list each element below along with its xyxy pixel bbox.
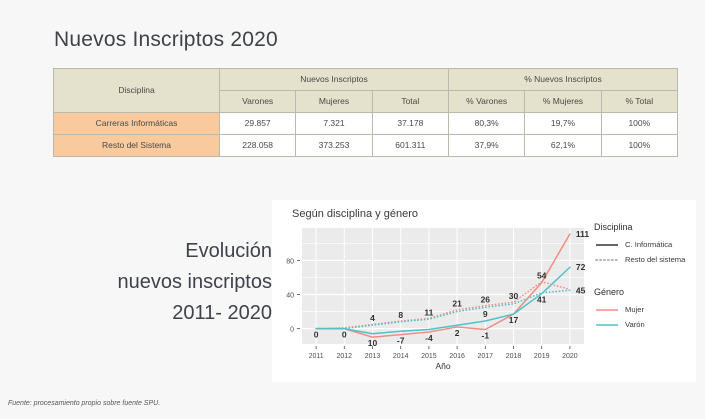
x-axis-tick-label: 2017: [478, 353, 494, 360]
chart-card: Según disciplina y género 04080201120122…: [272, 200, 696, 382]
header-group-nuevos-inscriptos: Nuevos Inscriptos: [220, 69, 449, 91]
x-axis-tick-label: 2014: [393, 353, 409, 360]
row-label-resto-del-sistema: Resto del Sistema: [54, 135, 220, 157]
page-title: Nuevos Inscriptos 2020: [54, 28, 278, 52]
chart-title: Según disciplina y género: [292, 208, 418, 220]
source-footnote: Fuente: procesamiento propio sobre fuent…: [8, 400, 160, 407]
cell-mujeres: 7.321: [296, 113, 372, 135]
legend-key-solid-line-icon: [594, 239, 620, 251]
legend-title-disciplina: Disciplina: [594, 222, 694, 232]
x-axis-tick-label: 2019: [534, 353, 550, 360]
data-point-label: 11: [424, 307, 433, 317]
x-axis-tick-label: 2011: [309, 353, 324, 360]
data-point-label: 72: [576, 262, 586, 272]
data-point-label: 26: [481, 294, 491, 304]
row-label-carreras-informaticas: Carreras Informáticas: [54, 113, 220, 135]
data-point-label: 41: [537, 295, 547, 305]
data-point-label: 9: [483, 309, 488, 319]
cell-mujeres: 373.253: [296, 135, 372, 157]
data-point-label: 54: [537, 271, 547, 281]
legend-item-c-informatica[interactable]: C. Informática: [594, 237, 694, 252]
legend-item-mujer[interactable]: Mujer: [594, 302, 694, 317]
header-pct-mujeres: % Mujeres: [525, 91, 601, 113]
data-point-label: -1: [482, 331, 490, 341]
legend-key-mujer-color-icon: [594, 304, 620, 316]
data-point-label: 21: [452, 299, 462, 309]
legend-key-dotted-line-icon: [594, 254, 620, 266]
data-point-label: 4: [370, 313, 375, 323]
y-axis-tick-label: 0: [290, 327, 294, 334]
chart-legend: Disciplina C. Informática Resto del sist…: [594, 222, 694, 332]
data-point-label: -7: [397, 336, 405, 346]
cell-pct-varones: 37,9%: [448, 135, 524, 157]
cell-pct-total: 100%: [601, 135, 677, 157]
legend-label-varon: Varón: [625, 320, 645, 329]
y-axis-tick-label: 40: [286, 293, 294, 300]
data-point-label: 10: [368, 338, 378, 348]
x-axis-tick-label: 2018: [506, 353, 522, 360]
table-row: Resto del Sistema 228.058 373.253 601.31…: [54, 135, 678, 157]
x-axis-tick-label: 2020: [562, 353, 578, 360]
data-table-container: Disciplina Nuevos Inscriptos % Nuevos In…: [53, 68, 678, 157]
table-head: Disciplina Nuevos Inscriptos % Nuevos In…: [54, 69, 678, 113]
data-point-label: 8: [398, 310, 403, 320]
header-pct-varones: % Varones: [448, 91, 524, 113]
table-body: Carreras Informáticas 29.857 7.321 37.17…: [54, 113, 678, 157]
x-axis-tick-label: 2016: [449, 353, 465, 360]
x-axis-tick-label: 2012: [337, 353, 353, 360]
header-mujeres: Mujeres: [296, 91, 372, 113]
header-group-pct-nuevos-inscriptos: % Nuevos Inscriptos: [448, 69, 677, 91]
cell-total: 37.178: [372, 113, 448, 135]
legend-label-mujer: Mujer: [625, 305, 644, 314]
y-axis-tick-label: 80: [286, 258, 294, 265]
table-row: Carreras Informáticas 29.857 7.321 37.17…: [54, 113, 678, 135]
legend-label-c-informatica: C. Informática: [625, 240, 672, 249]
x-axis-tick-label: 2013: [365, 353, 381, 360]
caption-line-2: nuevos inscriptos: [40, 267, 272, 298]
legend-item-resto-del-sistema[interactable]: Resto del sistema: [594, 252, 694, 267]
header-varones: Varones: [220, 91, 296, 113]
caption-line-3: 2011- 2020: [40, 298, 272, 329]
cell-varones: 228.058: [220, 135, 296, 157]
x-axis-title: Año: [435, 361, 450, 370]
cell-total: 601.311: [372, 135, 448, 157]
data-point-label: 17: [509, 315, 519, 325]
header-total: Total: [372, 91, 448, 113]
cell-varones: 29.857: [220, 113, 296, 135]
legend-item-varon[interactable]: Varón: [594, 317, 694, 332]
data-point-label: 30: [509, 291, 519, 301]
header-pct-total: % Total: [601, 91, 677, 113]
cell-pct-mujeres: 62,1%: [525, 135, 601, 157]
legend-title-genero: Género: [594, 287, 694, 297]
data-point-label: 0: [342, 330, 347, 340]
legend-label-resto-del-sistema: Resto del sistema: [625, 255, 685, 264]
cell-pct-mujeres: 19,7%: [525, 113, 601, 135]
header-disciplina: Disciplina: [54, 69, 220, 113]
legend-key-varon-color-icon: [594, 319, 620, 331]
x-axis-tick-label: 2015: [421, 353, 437, 360]
legend-spacer: [594, 267, 694, 287]
data-point-label: 2: [455, 328, 460, 338]
new-enrollments-table: Disciplina Nuevos Inscriptos % Nuevos In…: [53, 68, 678, 157]
data-point-label: -4: [425, 333, 433, 343]
slide-root: Nuevos Inscriptos 2020 Disciplina Nuevos…: [0, 0, 705, 419]
chart-plot-area: 0408020112012201320142015201620172018201…: [280, 222, 590, 370]
table-header-row-groups: Disciplina Nuevos Inscriptos % Nuevos In…: [54, 69, 678, 91]
data-point-label: 45: [576, 285, 586, 295]
cell-pct-total: 100%: [601, 113, 677, 135]
evolution-caption: Evolución nuevos inscriptos 2011- 2020: [40, 236, 272, 329]
cell-pct-varones: 80,3%: [448, 113, 524, 135]
data-point-label: 0: [314, 330, 319, 340]
caption-line-1: Evolución: [40, 236, 272, 267]
line-chart-svg: 0408020112012201320142015201620172018201…: [280, 222, 590, 370]
data-point-label: 111: [576, 229, 590, 239]
